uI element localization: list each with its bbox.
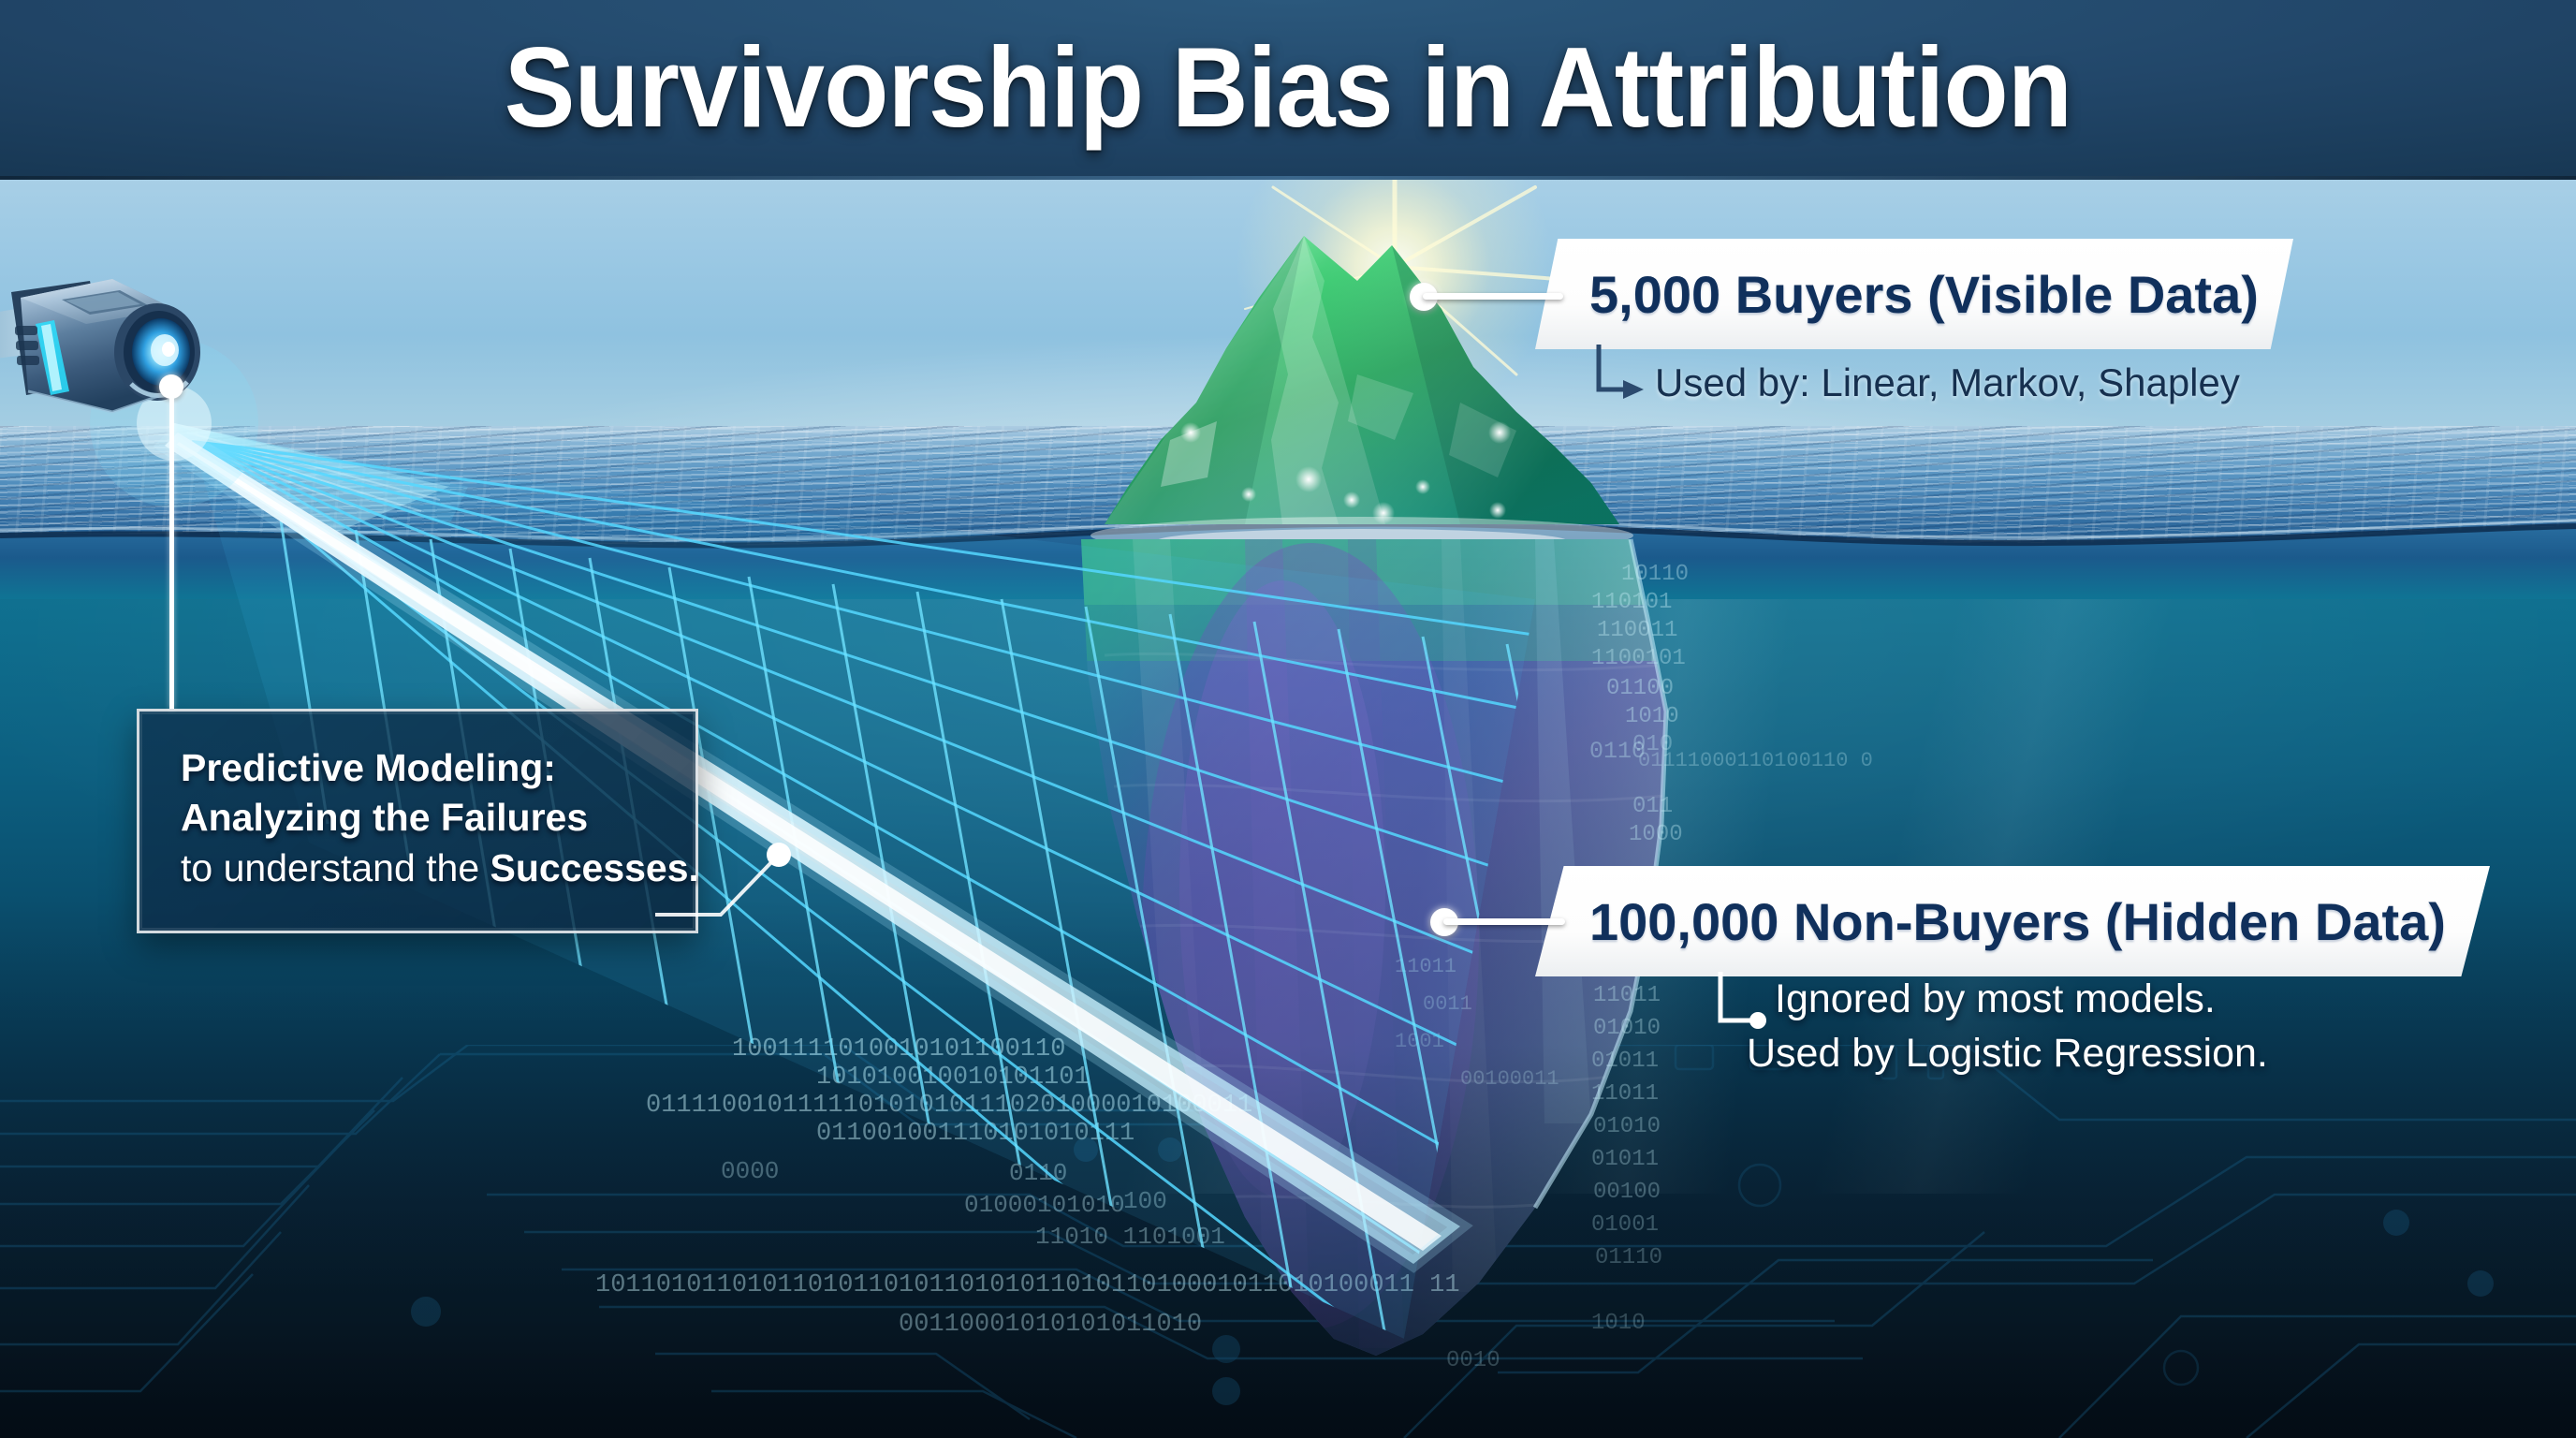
panel-line-3-prefix: to understand the [181,846,490,889]
hidden-data-label: 100,000 Non-Buyers (Hidden Data) [1589,891,2446,952]
panel-line-1: Predictive Modeling: [181,743,654,793]
title-bar: Survivorship Bias in Attribution [0,0,2576,180]
leader-line-visible [1423,293,1563,300]
panel-line-3: to understand the Successes. [181,844,654,893]
hidden-data-subtext-2: Used by Logistic Regression. [1747,1028,2268,1079]
panel-to-beam-connector [655,800,796,950]
leader-line-scanner [169,386,174,709]
panel-line-2: Analyzing the Failures [181,793,654,843]
infographic-canvas: 10110 110101 110011 1100101 01100 1010 0… [0,0,2576,1438]
visible-data-subtext: Used by: Linear, Markov, Shapley [1655,358,2240,408]
predictive-modeling-panel[interactable]: Predictive Modeling: Analyzing the Failu… [137,709,698,933]
page-title: Survivorship Bias in Attribution [90,7,2485,167]
waterline [0,487,2576,599]
visible-data-label: 5,000 Buyers (Visible Data) [1589,264,2259,325]
visible-data-plate[interactable]: 5,000 Buyers (Visible Data) [1535,239,2293,349]
scanner-device-icon [0,271,281,487]
leader-line-hidden [1443,918,1565,925]
hidden-data-plate[interactable]: 100,000 Non-Buyers (Hidden Data) [1535,866,2490,976]
hidden-data-subtext-1: Ignored by most models. [1775,974,2216,1025]
